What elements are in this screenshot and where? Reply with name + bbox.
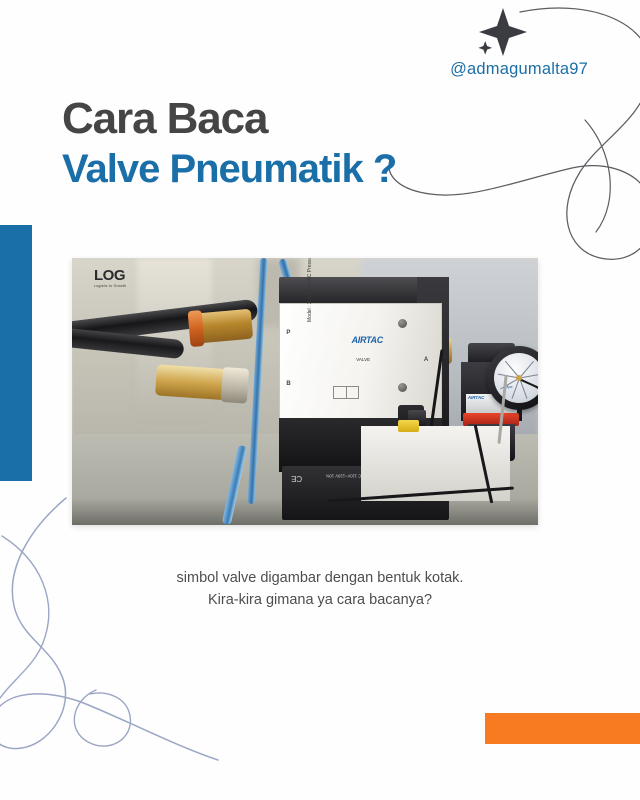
- gauge-face: Mpa: [494, 353, 538, 403]
- airtac-brand-label: AIRTAC: [352, 335, 383, 345]
- valve-port-a-label: A: [424, 357, 428, 363]
- photo-illustration: AIRTAC VALVE Model : 3V310-10-NC Pressur…: [72, 258, 538, 525]
- gauge-hub: [516, 375, 522, 381]
- orange-accent-bar: [485, 713, 640, 744]
- squiggle-bottom-left: [0, 498, 218, 760]
- star-small-icon: [478, 41, 492, 55]
- yellow-tab: [398, 420, 419, 432]
- blue-accent-bar: [0, 225, 32, 481]
- brass-fitting-middle: [155, 365, 235, 401]
- watermark-tagline: Logistic to Growth: [94, 284, 126, 288]
- valve-body: [279, 303, 442, 420]
- squiggle-bottom-left-2: [0, 536, 49, 712]
- page-title-line2: Valve Pneumatik ?: [62, 147, 396, 192]
- caption-line1: simbol valve digambar dengan bentuk kota…: [0, 568, 640, 590]
- ce-mark-label: CE: [291, 474, 302, 483]
- caption-block: simbol valve digambar dengan bentuk kota…: [0, 568, 640, 612]
- brass-fitting-top: [197, 309, 253, 344]
- valve-symbol-box: [333, 386, 359, 399]
- valve-photo: AIRTAC VALVE Model : 3V310-10-NC Pressur…: [72, 258, 538, 525]
- squiggle-bottom-loop: [74, 690, 130, 746]
- watermark-logo-text: LOG: [94, 268, 126, 283]
- poster-canvas: @admagumalta97 Cara Baca Valve Pneumatik…: [0, 0, 640, 800]
- valve-port-p-label: P: [286, 330, 290, 336]
- star-large-icon: [479, 8, 527, 56]
- caption-line2: Kira-kira gimana ya cara bacanya?: [0, 590, 640, 612]
- page-title-line1: Cara Baca: [62, 96, 396, 143]
- social-handle: @admagumalta97: [450, 60, 588, 79]
- squiggle-top-right: [389, 8, 640, 259]
- valve-port-b-label: B: [286, 381, 290, 387]
- title-block: Cara Baca Valve Pneumatik ?: [62, 96, 396, 191]
- photo-watermark: LOG Logistic to Growth: [94, 268, 126, 288]
- valve-model-label: Model : 3V310-10-NC Pressure: 0.1-0.8 Mp…: [307, 258, 315, 322]
- squiggle-top-right-2: [585, 120, 610, 232]
- airtac-brand-sub: VALVE: [356, 357, 370, 362]
